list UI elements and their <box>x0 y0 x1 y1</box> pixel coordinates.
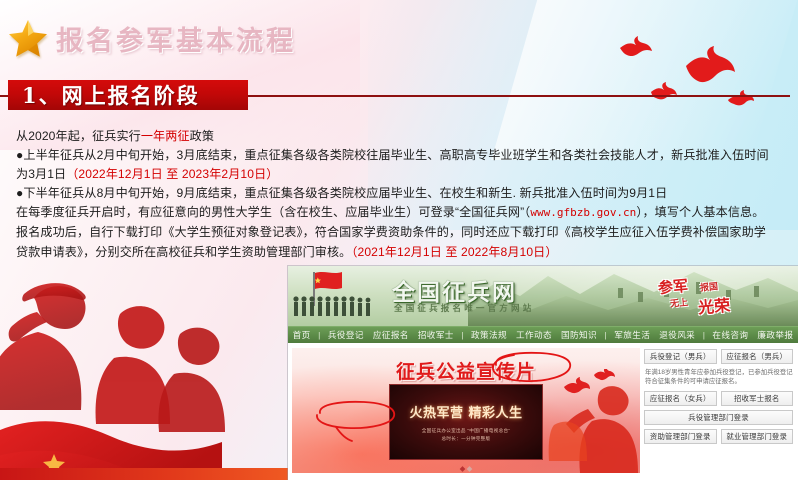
p1-highlight: 一年两征 <box>141 129 190 143</box>
site-banner: 全国征兵网 全国征兵报名唯一官方网站 参军 报国 无上 光荣 <box>288 266 798 326</box>
nav-item-7[interactable]: 工作动态 <box>512 329 557 341</box>
section-badge: 1、网上报名阶段 <box>8 80 248 110</box>
p7-highlight: （2021年12月1日 至 2022年8月10日） <box>351 245 557 259</box>
p3-highlight: （2022年12月1日 至 2023年2月10日） <box>66 167 278 181</box>
slide-canvas: 报名参军基本流程 1、网上报名阶段 从2020年起，征兵实行一年两征政策 ●上半… <box>0 0 798 480</box>
paragraph-6: 报名成功后，自行下载打印《大学生预征对象登记表》，符合国家学费资助条件的，同时还… <box>16 223 788 242</box>
panel-button-row-3: 资助管理部门登录 就业管理部门登录 <box>644 429 793 444</box>
carousel-dot-2[interactable] <box>467 466 473 472</box>
site-subtitle: 全国征兵报名唯一官方网站 <box>394 302 534 314</box>
paragraph-7: 贷款申请表》，分别交所在高校征兵和学生资助管理部门审核。（2021年12月1日 … <box>16 243 788 262</box>
flying-doves-icon <box>548 0 798 130</box>
bottom-red-band <box>0 468 290 480</box>
nav-separator: | <box>315 330 323 340</box>
service-panel: 兵役登记（男兵） 应征报名（男兵） 年满18岁男性青年应参加兵役登记，已参加兵役… <box>640 343 798 480</box>
nav-item-4[interactable]: 招收军士 <box>413 329 458 341</box>
site-nav: 首页|兵役登记应征报名招收军士|政策法规工作动态国防知识|军旅生活退役风采|在线… <box>288 326 798 343</box>
panel-button-row-wide: 兵役管理部门登录 <box>644 410 793 425</box>
paragraph-3: 为3月1日（2022年12月1日 至 2023年2月10日） <box>16 165 788 184</box>
video-subtitle: 全国征兵办公室出品 “中国广播电视总台” <box>422 428 510 434</box>
nav-item-0[interactable]: 首页 <box>288 329 315 341</box>
website-url[interactable]: www.gfbzb.gov.cn <box>530 206 636 219</box>
slogan-line2b: 光荣 <box>697 292 731 319</box>
paragraph-5: 在每季度征兵开启时，有应征意向的男性大学生（含在校生、应届毕业生）可登录“全国征… <box>16 203 788 223</box>
nav-separator: | <box>601 330 609 340</box>
slide-header: 报名参军基本流程 <box>0 14 296 62</box>
nav-item-14[interactable]: 廉政举报 <box>753 329 798 341</box>
saluting-soldiers-silhouette <box>0 262 294 480</box>
p5-part-b: ），填写个人基本信息。 <box>636 205 764 219</box>
paragraph-2: ●上半年征兵从2月中旬开始，3月底结束，重点征集各级各类院校往届毕业生、高职高专… <box>16 146 788 165</box>
site-body: 征兵公益宣传片 火热军营 精彩人生 全国征兵办公室出品 “中国广播电视总台” 总… <box>288 343 798 480</box>
panel-button-row-2: 应征报名（女兵） 招收军士报名 <box>644 391 793 406</box>
nav-item-13[interactable]: 在线咨询 <box>708 329 753 341</box>
p1-part-b: 政策 <box>190 129 214 143</box>
website-screenshot: 全国征兵网 全国征兵报名唯一官方网站 参军 报国 无上 光荣 首页|兵役登记应征… <box>288 266 798 480</box>
panel-note: 年满18岁男性青年应参加兵役登记，已参加兵役登记符合征集条件的可申请应征报名。 <box>645 368 793 386</box>
promo-banner[interactable]: 征兵公益宣传片 火热军营 精彩人生 全国征兵办公室出品 “中国广播电视总台” 总… <box>292 348 640 473</box>
nav-item-6[interactable]: 政策法规 <box>467 329 512 341</box>
section-title: 1、网上报名阶段 <box>22 80 200 110</box>
slogan-line2: 无上 <box>669 295 688 310</box>
paragraph-4: ●下半年征兵从8月中旬开始，9月底结束，重点征集各级各类院校应届毕业生、在校生和… <box>16 184 788 203</box>
carousel-dot-1[interactable] <box>460 466 466 472</box>
register-male-button[interactable]: 兵役登记（男兵） <box>644 349 717 364</box>
p5-part-a: 在每季度征兵开启时，有应征意向的男性大学生（含在校生、应届毕业生）可登录“全国征… <box>16 205 530 219</box>
recruit-sergeant-button[interactable]: 招收军士报名 <box>721 391 794 406</box>
slogan-line1b: 报国 <box>699 279 718 294</box>
apply-female-button[interactable]: 应征报名（女兵） <box>644 391 717 406</box>
nav-separator: | <box>458 330 466 340</box>
nav-item-8[interactable]: 国防知识 <box>557 329 602 341</box>
promo-video-thumbnail[interactable]: 火热军营 精彩人生 全国征兵办公室出品 “中国广播电视总台” 总时长：一分钟完整… <box>389 384 543 460</box>
paragraph-1: 从2020年起，征兵实行一年两征政策 <box>16 127 788 146</box>
carousel-dots[interactable] <box>461 467 472 471</box>
employment-admin-login-button[interactable]: 就业管理部门登录 <box>721 429 794 444</box>
nav-item-2[interactable]: 兵役登记 <box>323 329 368 341</box>
nav-item-11[interactable]: 退役风采 <box>655 329 700 341</box>
p7-part-a: 贷款申请表》，分别交所在高校征兵和学生资助管理部门审核。 <box>16 245 351 259</box>
p3-part-a: 为3月1日 <box>16 167 66 181</box>
gold-star-icon <box>0 14 56 62</box>
promo-title: 征兵公益宣传片 <box>396 357 536 384</box>
nav-item-10[interactable]: 军旅生活 <box>610 329 655 341</box>
video-subtitle-2: 总时长：一分钟完整版 <box>442 436 491 442</box>
panel-button-row-1: 兵役登记（男兵） 应征报名（男兵） <box>644 349 793 364</box>
chinese-flag-icon <box>292 269 388 323</box>
nav-item-3[interactable]: 应征报名 <box>368 329 413 341</box>
page-title: 报名参军基本流程 <box>56 19 296 58</box>
video-title: 火热军营 精彩人生 <box>409 402 522 421</box>
section-header-row: 1、网上报名阶段 <box>0 80 798 110</box>
site-slogan: 参军 报国 无上 光荣 <box>656 276 752 318</box>
p1-part-a: 从2020年起，征兵实行 <box>16 129 141 143</box>
body-text-block: 从2020年起，征兵实行一年两征政策 ●上半年征兵从2月中旬开始，3月底结束，重… <box>16 127 788 262</box>
military-service-admin-login-button[interactable]: 兵役管理部门登录 <box>644 410 793 425</box>
promo-soldier-silhouette <box>548 369 640 473</box>
nav-separator: | <box>700 330 708 340</box>
apply-male-button[interactable]: 应征报名（男兵） <box>721 349 794 364</box>
funding-admin-login-button[interactable]: 资助管理部门登录 <box>644 429 717 444</box>
